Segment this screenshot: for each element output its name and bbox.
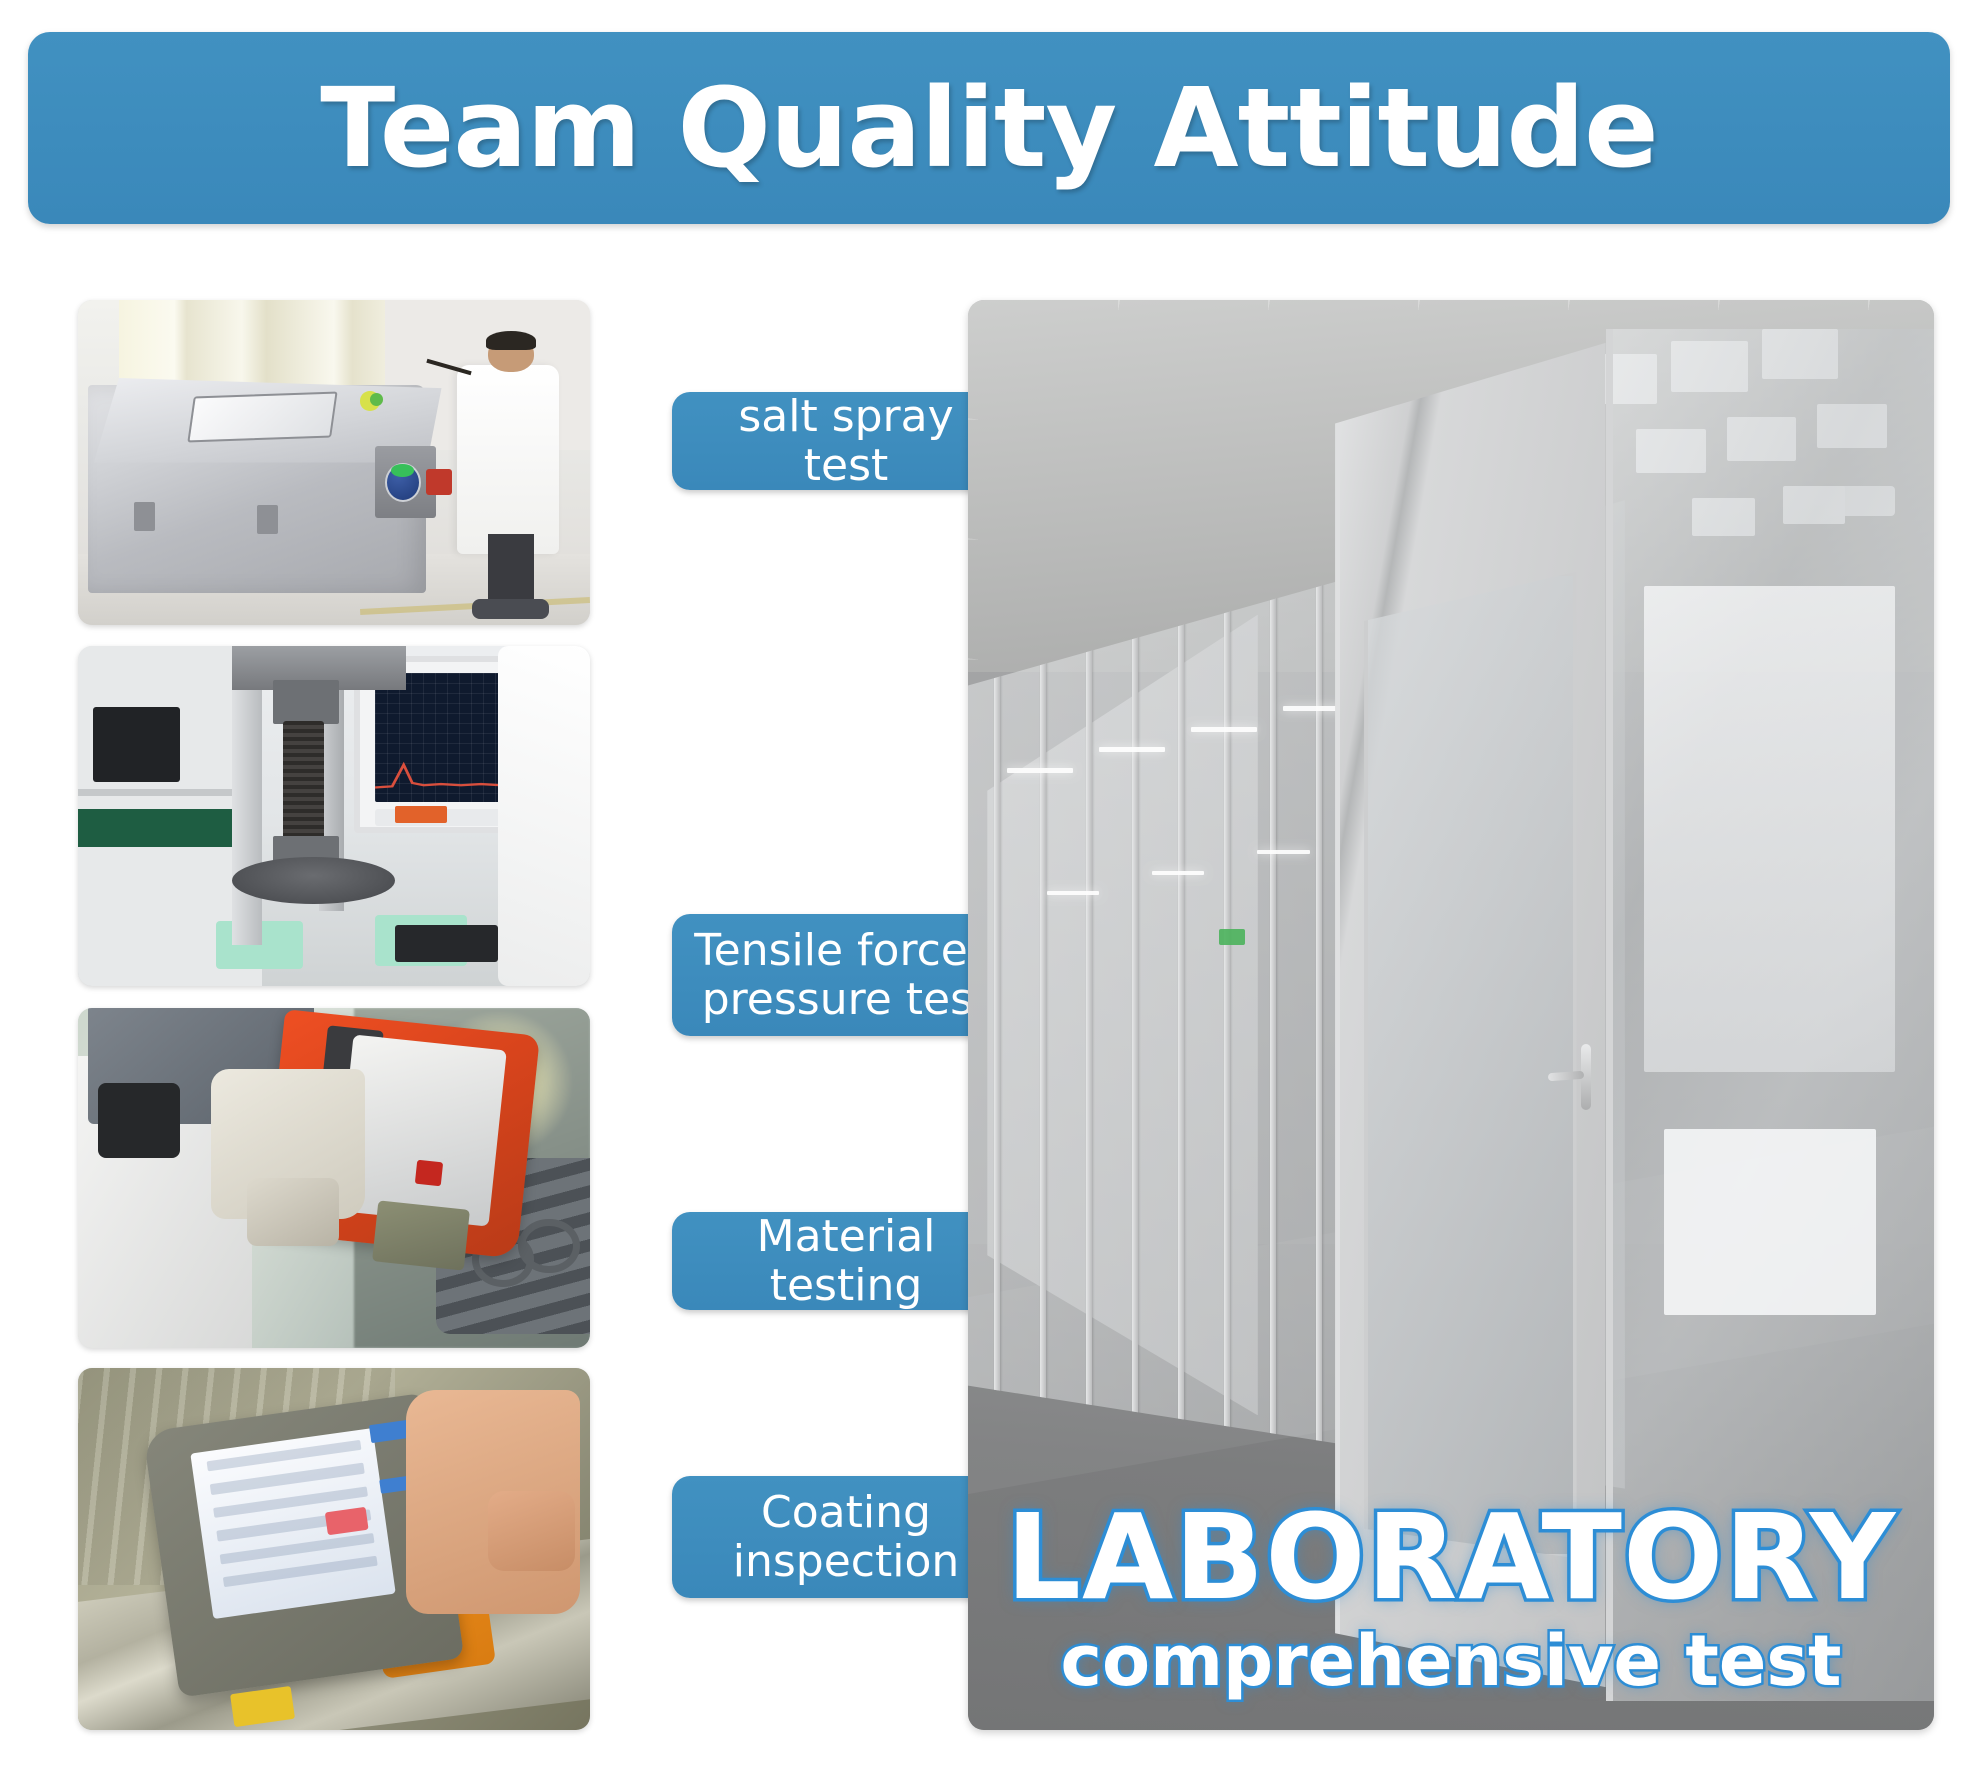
infographic-page: Team Quality Attitude [0, 0, 1980, 1768]
tensile-pressure-test-photo [78, 646, 590, 986]
force-curve-icon [375, 758, 518, 792]
laboratory-subtitle: comprehensive test [968, 1626, 1934, 1696]
page-title: Team Quality Attitude [320, 73, 1657, 183]
material-testing-photo [78, 1008, 590, 1348]
exit-sign-icon [1219, 929, 1245, 945]
feature-row: Tensile force - pressure test [78, 646, 958, 986]
laboratory-caption: LABORATORY comprehensive test [968, 1498, 1934, 1696]
coating-inspection-photo [78, 1368, 590, 1730]
salt-spray-chamber-photo [78, 300, 590, 625]
laboratory-title: LABORATORY [968, 1498, 1934, 1616]
header-banner: Team Quality Attitude [28, 32, 1950, 224]
feature-row: Material testing [78, 1008, 958, 1348]
laboratory-corridor-photo: LABORATORY comprehensive test [968, 300, 1934, 1730]
feature-row: salt spray test [78, 300, 958, 625]
feature-list: salt spray test [78, 300, 958, 1730]
feature-row: Coating inspection [78, 1368, 958, 1730]
